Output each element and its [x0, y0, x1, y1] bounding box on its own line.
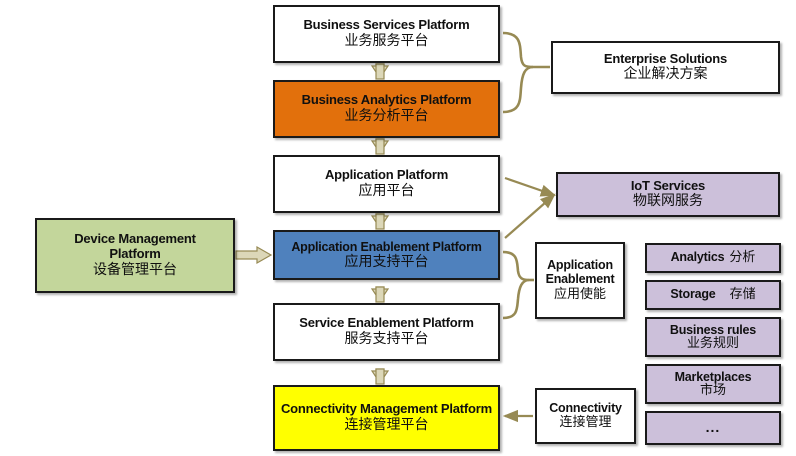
box-label-en: Connectivity Management Platform: [281, 402, 492, 417]
box-label-zh: 应用使能: [554, 288, 606, 303]
box-label-zh: 服务支持平台: [345, 332, 429, 348]
box-label-en: Application Enablement Platform: [291, 240, 481, 254]
box-business-analytics-platform[interactable]: Business Analytics Platform 业务分析平台: [273, 80, 500, 138]
capability-label-zh: 存储: [730, 288, 756, 303]
box-label-en-line1: Device Management: [74, 232, 196, 247]
device-to-aep-arrow: [236, 247, 271, 263]
box-label-zh: 企业解决方案: [624, 67, 708, 83]
box-application-platform[interactable]: Application Platform 应用平台: [273, 155, 500, 213]
box-business-services-platform[interactable]: Business Services Platform 业务服务平台: [273, 5, 500, 63]
capability-row: Storage 存储: [670, 287, 755, 303]
box-label-en: Connectivity: [549, 401, 622, 415]
iot-arrows: [505, 178, 554, 238]
box-label-en-line2: Enablement: [546, 272, 615, 286]
box-application-enablement[interactable]: Application Enablement 应用使能: [535, 242, 625, 319]
capability-row: Analytics 分析: [671, 250, 756, 266]
box-label-en: Application Platform: [325, 168, 448, 183]
box-label-en-line2: Platform: [109, 247, 160, 262]
box-capability-storage[interactable]: Storage 存储: [645, 280, 781, 310]
box-device-management-platform[interactable]: Device Management Platform 设备管理平台: [35, 218, 235, 293]
box-label-zh: 连接管理: [559, 416, 611, 431]
box-capability-marketplaces[interactable]: Marketplaces 市场: [645, 364, 781, 404]
box-label-zh: 业务分析平台: [345, 109, 429, 125]
capability-label-zh: 分析: [729, 251, 755, 266]
box-label-zh: 设备管理平台: [93, 263, 177, 279]
box-label-en: Service Enablement Platform: [299, 316, 474, 331]
box-iot-services[interactable]: IoT Services 物联网服务: [556, 172, 780, 217]
app-enablement-brace: [503, 252, 534, 318]
box-capability-business-rules[interactable]: Business rules 业务规则: [645, 317, 781, 357]
box-label-en: Enterprise Solutions: [604, 52, 727, 67]
capability-label-zh: 业务规则: [687, 337, 739, 352]
capability-label-zh: 市场: [700, 384, 726, 399]
capability-label-en: Business rules: [670, 323, 756, 337]
capability-label-en: Marketplaces: [675, 370, 752, 384]
box-label-zh: 连接管理平台: [345, 418, 429, 434]
capability-label-en: Storage: [670, 287, 715, 301]
box-label-en-line1: Application: [547, 258, 613, 272]
box-application-enablement-platform[interactable]: Application Enablement Platform 应用支持平台: [273, 230, 500, 280]
enterprise-brace: [503, 33, 550, 112]
box-label-zh: 物联网服务: [633, 194, 703, 210]
box-connectivity[interactable]: Connectivity 连接管理: [535, 388, 636, 444]
box-label-en: IoT Services: [631, 179, 705, 194]
box-service-enablement-platform[interactable]: Service Enablement Platform 服务支持平台: [273, 303, 500, 361]
box-label-zh: 业务服务平台: [345, 34, 429, 50]
box-connectivity-management-platform[interactable]: Connectivity Management Platform 连接管理平台: [273, 385, 500, 451]
box-label-zh: 应用支持平台: [345, 255, 429, 271]
box-label-zh: 应用平台: [359, 184, 415, 200]
capability-label-en: Analytics: [671, 250, 725, 264]
box-label-en: Business Analytics Platform: [302, 93, 472, 108]
diagram-canvas: Business Services Platform 业务服务平台 Busine…: [0, 0, 796, 456]
box-enterprise-solutions[interactable]: Enterprise Solutions 企业解决方案: [551, 41, 780, 94]
capability-label-en: ...: [706, 420, 721, 436]
box-capability-more[interactable]: ...: [645, 411, 781, 445]
box-capability-analytics[interactable]: Analytics 分析: [645, 243, 781, 273]
box-label-en: Business Services Platform: [303, 18, 469, 33]
